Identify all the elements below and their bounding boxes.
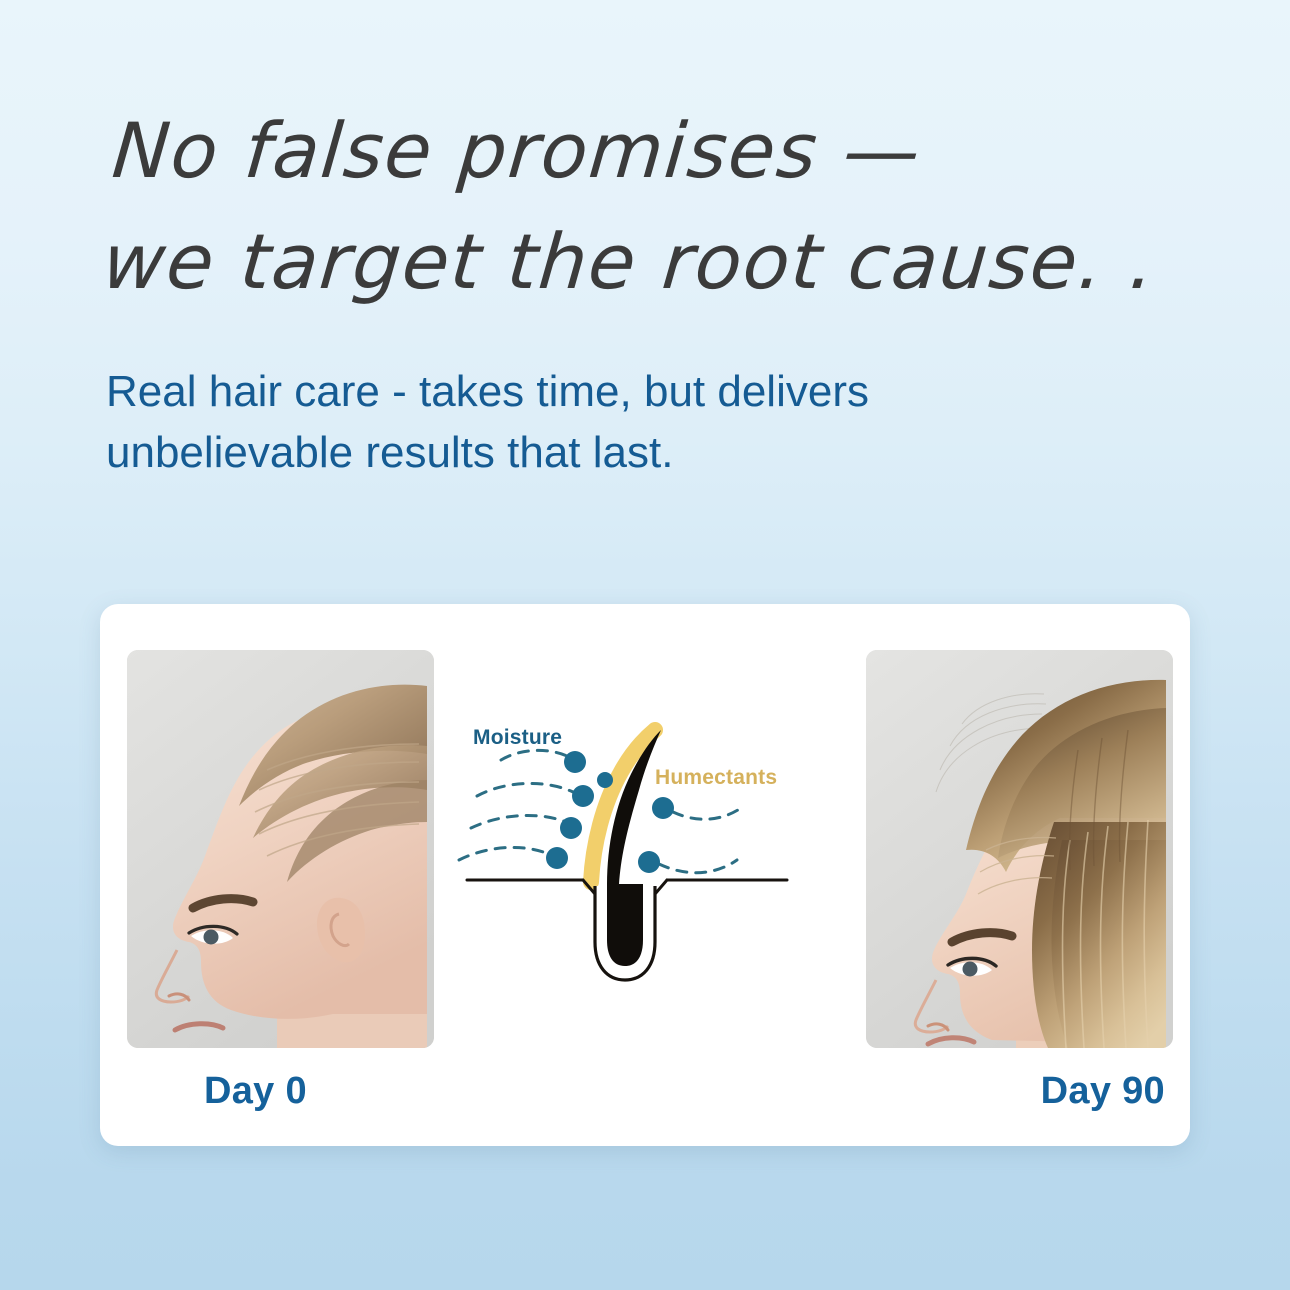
moisture-arcs-left	[459, 750, 573, 860]
page-subheadline: Real hair care - takes time, but deliver…	[106, 362, 1046, 483]
page-headline: No false promises — we target the root c…	[98, 96, 1237, 318]
hair-follicle-diagram: Moisture Humectants	[455, 704, 835, 1004]
before-after-card: Moisture Humectants	[100, 604, 1190, 1146]
humectants-label: Humectants	[655, 766, 777, 790]
day-0-label: Day 0	[204, 1070, 307, 1113]
after-photo	[866, 650, 1173, 1048]
moisture-arcs-right	[659, 808, 741, 873]
after-portrait-illustration	[866, 650, 1173, 1048]
day-90-label: Day 90	[858, 1070, 1165, 1113]
follicle-root	[607, 884, 643, 966]
before-photo	[127, 650, 434, 1048]
moisture-label: Moisture	[473, 726, 562, 750]
promo-banner: No false promises — we target the root c…	[0, 0, 1290, 1290]
before-portrait-illustration	[127, 650, 434, 1048]
